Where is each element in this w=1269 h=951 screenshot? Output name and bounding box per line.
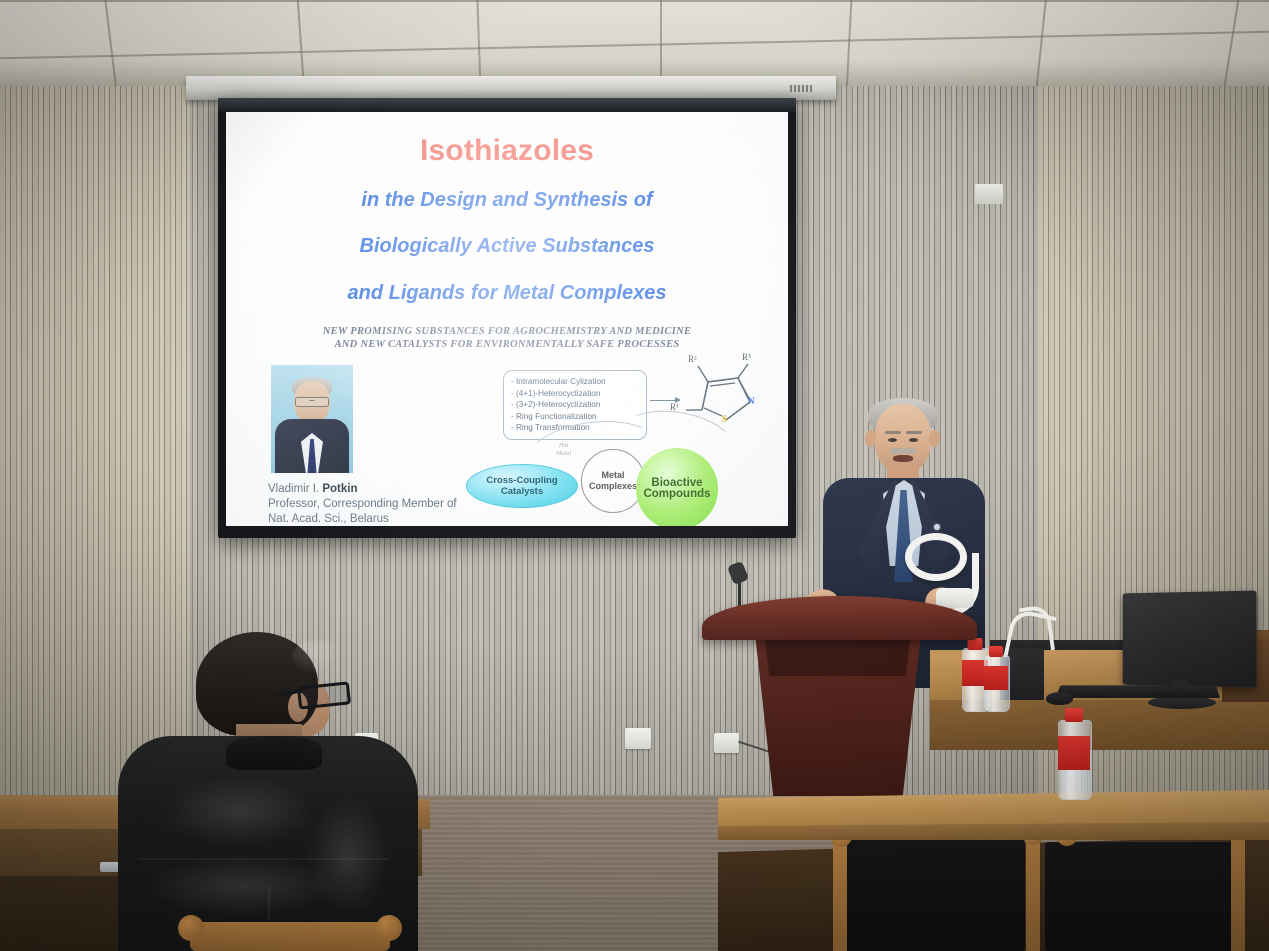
substituent-r3-label: R³ — [742, 352, 751, 362]
portrait-glasses-icon — [295, 397, 329, 407]
slide-caps-line-1: NEW PROMISING SUBSTANCES FOR AGROCHEMIST… — [226, 326, 788, 339]
audience-jacket-collar — [226, 736, 322, 770]
audience-person — [118, 632, 418, 951]
portrait-suit — [275, 419, 349, 473]
slide-subtitle-line-1: in the Design and Synthesis of — [226, 189, 788, 212]
wall-outlet-high[interactable] — [975, 184, 1003, 204]
bottle-label — [984, 666, 1008, 690]
method-item: - Ring Functionalization — [511, 411, 646, 423]
slide-title: Isothiazoles — [226, 134, 788, 168]
speaker-moustache — [890, 448, 916, 454]
projection-screen-housing — [186, 76, 836, 100]
presenter-affiliation: Professor, Corresponding Member of Nat. … — [268, 497, 457, 526]
presentation-slide: Isothiazoles in the Design and Synthesis… — [226, 112, 788, 526]
speaker-ear — [929, 430, 940, 447]
bottle-label — [1058, 736, 1090, 770]
bottle-cap — [1065, 708, 1083, 722]
nitrogen-atom-label: N — [748, 396, 755, 406]
arc-note-label: Het Metal — [556, 442, 571, 458]
chair-frame — [1026, 836, 1040, 951]
presenter-portrait-photo — [271, 365, 353, 473]
speaker-eyebrow — [885, 431, 901, 434]
audience-hair-highlight — [292, 640, 344, 674]
substituent-r2-label: R² — [688, 354, 697, 364]
jacket-seam — [138, 858, 388, 860]
audience-chair-back[interactable] — [190, 922, 390, 951]
metal-complexes-bubble: Metal Complexes — [581, 449, 645, 513]
presenter-last-name: Potkin — [322, 483, 357, 495]
method-item: - (3+2)-Heterocyclization — [511, 399, 646, 411]
keyboard[interactable] — [1056, 685, 1221, 698]
presenter-name: Vladimir I. Potkin — [268, 482, 357, 497]
conference-room-photo: Isothiazoles in the Design and Synthesis… — [0, 0, 1269, 951]
mouse[interactable] — [1046, 692, 1073, 705]
slide-subtitle-line-2: Biologically Active Substances — [226, 235, 788, 258]
screen-top-bar — [218, 98, 796, 112]
method-item: - Intramolecular Cylization — [511, 376, 646, 388]
speaker-mouth — [893, 455, 913, 462]
speaker-lapel-pin-icon — [934, 524, 940, 530]
method-item: - (4+1)-Heterocyclization — [511, 388, 646, 400]
speaker-eyebrow — [906, 431, 922, 434]
speaker-ear — [865, 430, 876, 447]
slide-subtitle-line-3: and Ligands for Metal Complexes — [226, 282, 788, 305]
desk-lamp-base — [936, 588, 974, 608]
chair-frame — [1231, 840, 1245, 951]
chair-seatback[interactable] — [845, 838, 1025, 951]
sulfur-atom-label: S — [722, 414, 727, 424]
water-bottle[interactable] — [984, 646, 1008, 712]
jacket-sheen — [164, 776, 314, 846]
cross-coupling-bubble: Cross-Coupling Catalysts — [466, 464, 578, 508]
computer-monitor[interactable] — [1123, 590, 1257, 687]
chair-seatback[interactable] — [1045, 842, 1235, 951]
chair-knob — [178, 915, 204, 941]
reaction-arrow-icon — [650, 400, 680, 401]
water-bottle[interactable] — [1058, 708, 1090, 800]
podium-shadow — [760, 640, 915, 676]
wall-outlet[interactable] — [625, 728, 651, 749]
presenter-first-name: Vladimir I. — [268, 483, 322, 495]
slide-caps-line-2: AND NEW CATALYSTS FOR ENVIRONMENTALLY SA… — [226, 339, 788, 352]
wall-outlet[interactable] — [714, 733, 739, 753]
jacket-sheen — [308, 796, 388, 916]
speaker-eye — [909, 438, 918, 442]
chair-frame — [833, 836, 847, 951]
bioactive-compounds-bubble: Bioactive Compounds — [636, 448, 718, 526]
housing-label-icon — [790, 85, 812, 92]
speaker-eye — [888, 438, 897, 442]
chair-knob — [376, 915, 402, 941]
slide-caps-block: NEW PROMISING SUBSTANCES FOR AGROCHEMIST… — [226, 326, 788, 351]
audience-glasses-icon — [297, 681, 351, 709]
projection-screen: Isothiazoles in the Design and Synthesis… — [218, 98, 796, 538]
bottle-cap — [989, 646, 1003, 657]
